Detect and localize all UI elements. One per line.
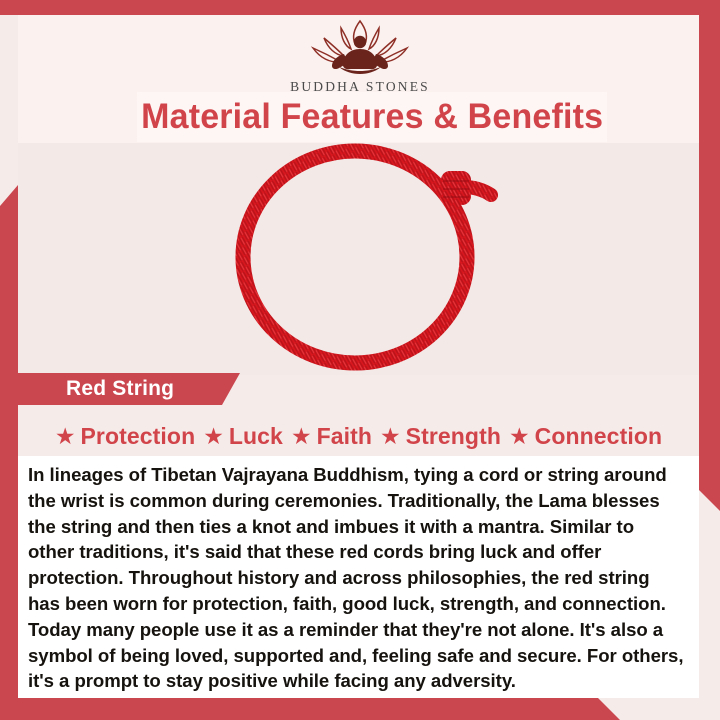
frame-left-bar <box>0 185 18 705</box>
description-text: In lineages of Tibetan Vajrayana Buddhis… <box>28 462 685 694</box>
feature-item-protection: ★ Protection <box>55 423 195 450</box>
product-image-area <box>18 143 699 375</box>
star-icon: ★ <box>55 425 76 448</box>
frame-bottom-bar <box>0 698 620 720</box>
feature-label: Protection <box>80 423 195 450</box>
feature-label: Luck <box>229 423 283 450</box>
product-label: Red String <box>66 377 174 401</box>
feature-label: Strength <box>406 423 501 450</box>
feature-item-faith: ★ Faith <box>291 423 372 450</box>
frame-top-bar <box>0 0 720 15</box>
feature-label: Connection <box>535 423 663 450</box>
feature-item-connection: ★ Connection <box>509 423 662 450</box>
infographic-page: BUDDHA STONES Material Features & Benefi… <box>0 0 720 720</box>
star-icon: ★ <box>291 425 312 448</box>
description-panel: In lineages of Tibetan Vajrayana Buddhis… <box>18 456 699 698</box>
feature-list: ★ Protection ★ Luck ★ Faith ★ Strength ★… <box>18 417 699 455</box>
feature-item-luck: ★ Luck <box>203 423 283 450</box>
star-icon: ★ <box>509 425 530 448</box>
page-title: Material Features & Benefits <box>141 97 603 137</box>
brand-logo: BUDDHA STONES <box>0 18 720 95</box>
lotus-meditation-icon <box>301 18 419 76</box>
product-label-banner: Red String <box>18 373 240 405</box>
title-banner: Material Features & Benefits <box>137 92 607 142</box>
star-icon: ★ <box>380 425 401 448</box>
feature-label: Faith <box>317 423 372 450</box>
star-icon: ★ <box>203 425 224 448</box>
feature-item-strength: ★ Strength <box>380 423 501 450</box>
red-braided-string-bracelet-icon <box>223 143 523 375</box>
